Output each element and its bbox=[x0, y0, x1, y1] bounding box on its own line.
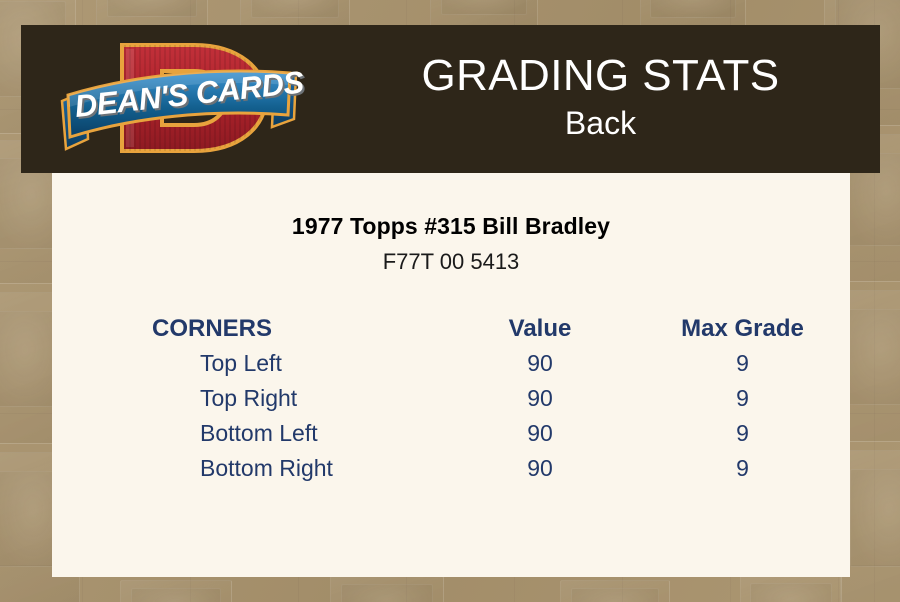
table-row: Top Left 90 9 bbox=[52, 346, 850, 381]
table-row: Top Right 90 9 bbox=[52, 381, 850, 416]
header-title-group: GRADING STATS Back bbox=[321, 25, 880, 173]
page-subtitle: Back bbox=[565, 103, 636, 145]
column-header-max-grade: Max Grade bbox=[635, 311, 850, 346]
background-ghost-card bbox=[330, 576, 444, 602]
column-header-value: Value bbox=[445, 311, 635, 346]
row-label: Top Right bbox=[52, 381, 445, 416]
row-value: 90 bbox=[445, 381, 635, 416]
page-root: DEAN'S CARDS DEAN'S CARDS GRADING STATS … bbox=[0, 0, 900, 602]
page-title: GRADING STATS bbox=[421, 54, 779, 99]
column-header-corners: CORNERS bbox=[52, 311, 445, 346]
row-max-grade: 9 bbox=[635, 416, 850, 451]
table-body: Top Left 90 9 Top Right 90 9 Bottom Left… bbox=[52, 346, 850, 486]
row-max-grade: 9 bbox=[635, 346, 850, 381]
row-value: 90 bbox=[445, 346, 635, 381]
background-ghost-card bbox=[740, 574, 842, 602]
header-band: DEAN'S CARDS DEAN'S CARDS GRADING STATS … bbox=[21, 25, 880, 173]
row-max-grade: 9 bbox=[635, 451, 850, 486]
row-value: 90 bbox=[445, 416, 635, 451]
content-panel: 1977 Topps #315 Bill Bradley F77T 00 541… bbox=[52, 173, 850, 577]
row-value: 90 bbox=[445, 451, 635, 486]
table-row: Bottom Left 90 9 bbox=[52, 416, 850, 451]
grading-stats-table: CORNERS Value Max Grade Top Left 90 9 To… bbox=[52, 311, 850, 486]
table-row: Bottom Right 90 9 bbox=[52, 451, 850, 486]
table-header-row: CORNERS Value Max Grade bbox=[52, 311, 850, 346]
deans-cards-logo[interactable]: DEAN'S CARDS DEAN'S CARDS bbox=[44, 23, 314, 173]
row-label: Bottom Left bbox=[52, 416, 445, 451]
row-max-grade: 9 bbox=[635, 381, 850, 416]
table-head: CORNERS Value Max Grade bbox=[52, 311, 850, 346]
background-ghost-card bbox=[120, 580, 232, 602]
row-label: Top Left bbox=[52, 346, 445, 381]
card-sku: F77T 00 5413 bbox=[52, 249, 850, 275]
background-ghost-card bbox=[560, 580, 670, 602]
card-heading: 1977 Topps #315 Bill Bradley bbox=[52, 213, 850, 240]
row-label: Bottom Right bbox=[52, 451, 445, 486]
